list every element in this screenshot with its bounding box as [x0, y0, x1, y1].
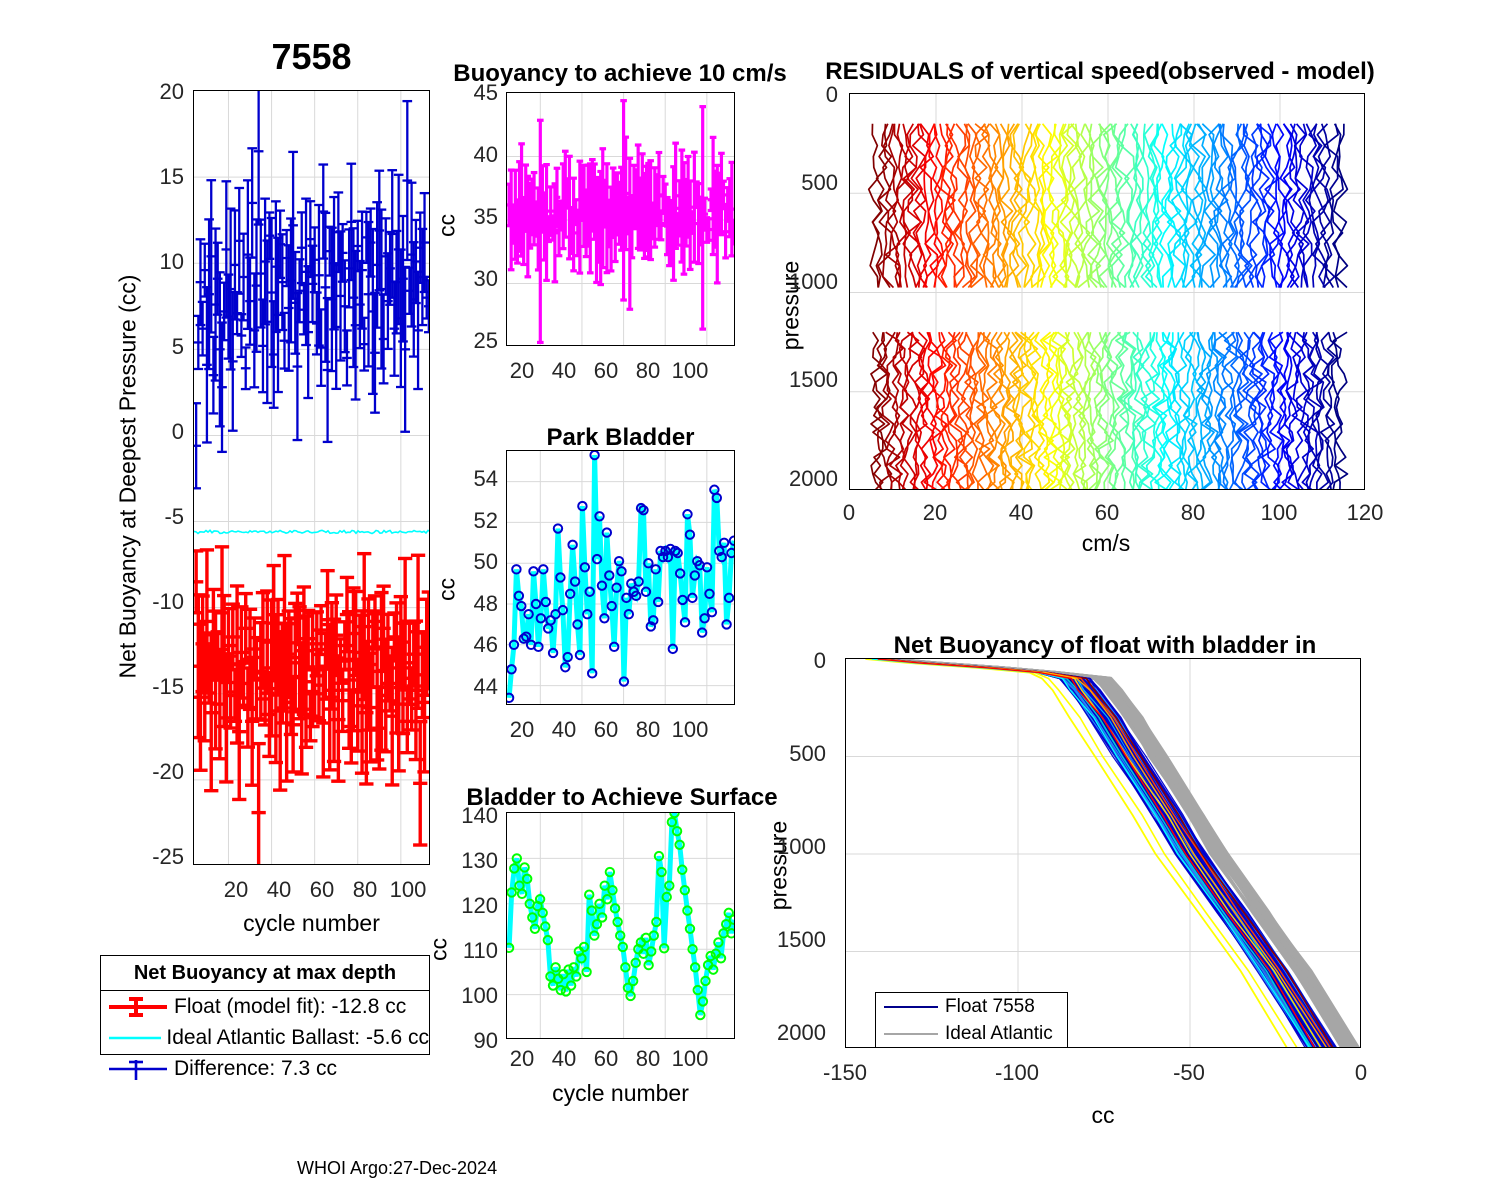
ytick-label: 25	[450, 328, 498, 354]
xtick-label: 40	[541, 358, 587, 384]
axis-label-x-cms: cm/s	[848, 530, 1364, 557]
plot-area-bladder-surface	[506, 812, 735, 1039]
ytick-label: -10	[120, 589, 184, 615]
xtick-label: 40	[541, 717, 587, 743]
xtick-label: 120	[1342, 500, 1388, 526]
ytick-label: -5	[120, 504, 184, 530]
ytick-label: 0	[776, 82, 838, 108]
ytick-label: 52	[450, 508, 498, 534]
axis-label-y-net-buoyancy: Net Buoyancy at Deepest Pressure (cc)	[115, 197, 142, 757]
panel-title-bladder-in: Net Buoyancy of float with bladder in	[845, 632, 1365, 660]
ytick-label: -15	[120, 674, 184, 700]
xtick-label: 100	[667, 717, 713, 743]
legend-item[interactable]: Float 7558	[876, 993, 1067, 1020]
ytick-label: -20	[120, 759, 184, 785]
ytick-label: 1000	[764, 834, 826, 860]
ytick-label: 46	[450, 632, 498, 658]
plot-area-park-bladder	[506, 450, 735, 705]
ytick-label: 100	[434, 983, 498, 1009]
axis-label-x-cycle-number: cycle number	[193, 910, 430, 937]
xtick-label: 100	[383, 877, 433, 903]
ytick-label: -25	[120, 844, 184, 870]
xtick-label: 40	[541, 1046, 587, 1072]
axis-label-x-cycle-number-surface: cycle number	[506, 1080, 735, 1107]
ytick-label: 30	[450, 266, 498, 292]
ytick-label: 90	[434, 1028, 498, 1054]
legend-item[interactable]: Ideal Atlantic Ballast: -5.6 cc	[101, 1022, 429, 1053]
ytick-label: 140	[434, 803, 498, 829]
xtick-label: 20	[499, 717, 545, 743]
legend-item-label: Float (model fit): -12.8 cc	[174, 995, 406, 1019]
ytick-label: 54	[450, 466, 498, 492]
plot-area-residuals	[849, 93, 1365, 490]
legend-item-label: Ideal Atlantic	[945, 1023, 1053, 1045]
legend-max-depth: Net Buoyancy at max depth Float (model f…	[100, 955, 430, 1055]
ytick-label: 44	[450, 674, 498, 700]
ytick-label: 2000	[764, 1020, 826, 1046]
ytick-label: 15	[120, 164, 184, 190]
xtick-label: -100	[986, 1060, 1048, 1086]
ytick-label: 1000	[776, 269, 838, 295]
panel-title-bladder-surface: Bladder to Achieve Surface	[452, 784, 792, 812]
chart-canvas-park-bladder	[507, 451, 735, 705]
xtick-label: -50	[1158, 1060, 1220, 1086]
panel-title-residuals: RESIDUALS of vertical speed(observed - m…	[800, 58, 1400, 86]
xtick-label: 40	[998, 500, 1044, 526]
xtick-label: 60	[1084, 500, 1130, 526]
chart-canvas-bladder-surface	[507, 813, 735, 1039]
legend-swatch-line-cyan	[107, 1026, 161, 1050]
xtick-label: 60	[583, 358, 629, 384]
legend-swatch-errorbar-red	[107, 995, 169, 1019]
chart-canvas-buoyancy-10cms	[507, 93, 735, 346]
ytick-label: 40	[450, 142, 498, 168]
xtick-label: 100	[667, 1046, 713, 1072]
xtick-label: 20	[499, 1046, 545, 1072]
plot-area-net-buoyancy-deepest	[193, 90, 430, 865]
page-title: 7558	[193, 36, 430, 78]
ytick-label: 500	[764, 741, 826, 767]
plot-area-net-buoyancy-bladder-in	[845, 658, 1361, 1048]
ytick-label: 2000	[776, 466, 838, 492]
xtick-label: 60	[583, 717, 629, 743]
ytick-label: 1500	[776, 367, 838, 393]
legend-swatch-line-float	[882, 999, 940, 1015]
legend-swatch-errorbar-blue	[107, 1057, 169, 1081]
ytick-label: 0	[120, 419, 184, 445]
ytick-label: 35	[450, 204, 498, 230]
legend-item[interactable]: Ideal Atlantic	[876, 1020, 1067, 1047]
xtick-label: 80	[625, 1046, 671, 1072]
ytick-label: 48	[450, 591, 498, 617]
legend-item-label: Ideal Atlantic Ballast: -5.6 cc	[166, 1026, 429, 1050]
ytick-label: 50	[450, 549, 498, 575]
xtick-label: 100	[1256, 500, 1302, 526]
xtick-label: 100	[667, 358, 713, 384]
xtick-label: -150	[814, 1060, 876, 1086]
xtick-label: 80	[1170, 500, 1216, 526]
chart-canvas-residuals	[850, 94, 1365, 490]
chart-canvas-bladder-in	[846, 659, 1361, 1048]
legend-item-label: Float 7558	[945, 996, 1035, 1018]
ytick-label: 10	[120, 249, 184, 275]
plot-area-buoyancy-10cms	[506, 92, 735, 346]
xtick-label: 20	[912, 500, 958, 526]
xtick-label: 60	[583, 1046, 629, 1072]
ytick-label: 5	[120, 334, 184, 360]
legend-item[interactable]: Float (model fit): -12.8 cc	[101, 991, 429, 1022]
chart-canvas-net-buoyancy	[194, 91, 430, 865]
ytick-label: 0	[764, 648, 826, 674]
ytick-label: 130	[434, 848, 498, 874]
xtick-label: 80	[625, 717, 671, 743]
xtick-label: 20	[499, 358, 545, 384]
axis-label-x-cc-bladder-in: cc	[845, 1102, 1361, 1129]
ytick-label: 1500	[764, 927, 826, 953]
ytick-label: 45	[450, 80, 498, 106]
ytick-label: 110	[434, 938, 498, 964]
legend-title: Net Buoyancy at max depth	[101, 956, 429, 991]
panel-title-park-bladder: Park Bladder	[506, 424, 735, 452]
ytick-label: 20	[120, 79, 184, 105]
footer-credit: WHOI Argo:27-Dec-2024	[297, 1158, 497, 1179]
legend-item[interactable]: Difference: 7.3 cc	[101, 1053, 429, 1084]
xtick-label: 80	[625, 358, 671, 384]
xtick-label: 0	[826, 500, 872, 526]
ytick-label: 120	[434, 893, 498, 919]
legend-swatch-line-ideal	[882, 1026, 940, 1042]
xtick-label: 0	[1330, 1060, 1392, 1086]
legend-bladder-in: Float 7558 Ideal Atlantic	[875, 992, 1068, 1048]
legend-item-label: Difference: 7.3 cc	[174, 1057, 337, 1081]
ytick-label: 500	[776, 170, 838, 196]
